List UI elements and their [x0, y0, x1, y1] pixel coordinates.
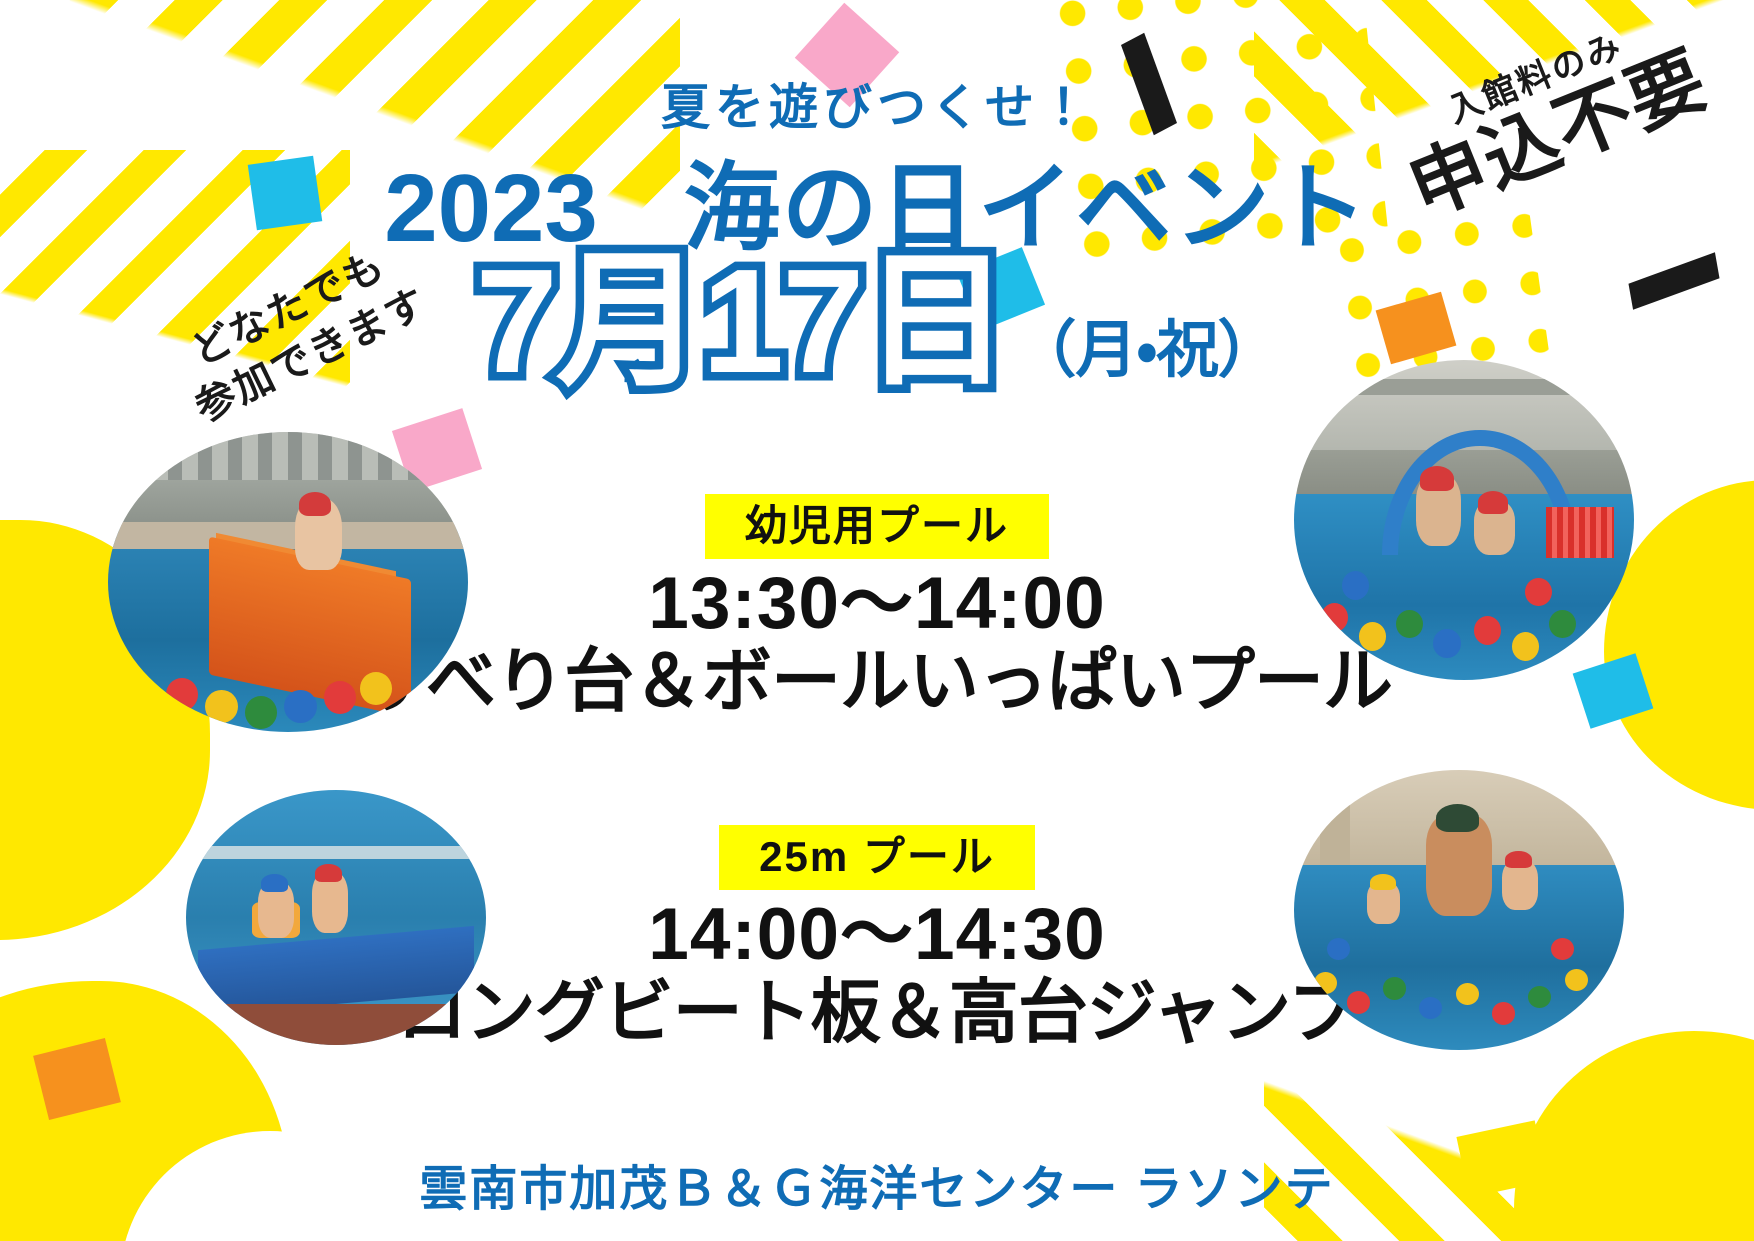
venue-name: 雲南市加茂Ｂ＆Ｇ海洋センター ラソンテ [0, 1149, 1754, 1219]
photo-2-content [1294, 360, 1634, 680]
photo-3-content [186, 790, 486, 1045]
date-month: 7月 [475, 248, 701, 396]
instructor-kids-balls-photo [1294, 770, 1624, 1050]
kids-beat-board-photo [186, 790, 486, 1045]
session-1-pool-tag: 幼児用プール [705, 494, 1049, 559]
date-weekday-suffix: （月・祝） [1014, 320, 1278, 396]
photo-1-content [108, 432, 468, 732]
date-day: 17 [702, 248, 863, 396]
poster-canvas: どなたでも 参加できます 入館料のみ 申込不要 夏を遊びつくせ！ 2023 海の… [0, 0, 1754, 1241]
kicker-text: 夏を遊びつくせ！ [0, 68, 1754, 139]
date-unit: 日 [862, 248, 1008, 396]
toddler-slide-pool-photo [108, 432, 468, 732]
photo-4-content [1294, 770, 1624, 1050]
session-2-pool-tag: 25m プール [719, 825, 1035, 890]
kids-arch-ball-pool-photo [1294, 360, 1634, 680]
